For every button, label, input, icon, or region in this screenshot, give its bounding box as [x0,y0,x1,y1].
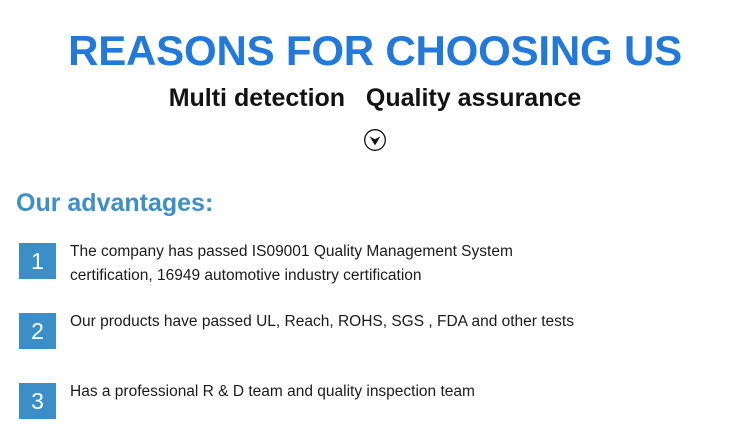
chevron-down-circle-icon [363,128,387,152]
list-item-text: Our products have passed UL, Reach, ROHS… [70,310,750,334]
list-item-text: The company has passed IS09001 Quality M… [70,240,750,288]
list-item-number-badge: 3 [19,383,56,419]
section-heading: Our advantages: [16,188,213,218]
list-item-number-badge: 1 [19,243,56,279]
list-item: 3 Has a professional R & D team and qual… [0,375,750,445]
list-item: 2 Our products have passed UL, Reach, RO… [0,305,750,375]
page-subtitle: Multi detection Quality assurance [0,83,750,113]
list-item: 1 The company has passed IS09001 Quality… [0,235,750,305]
banner-header: REASONS FOR CHOOSING US Multi detection … [0,26,750,113]
advantages-list: 1 The company has passed IS09001 Quality… [0,235,750,445]
list-item-text: Has a professional R & D team and qualit… [70,380,750,404]
list-item-number-badge: 2 [19,313,56,349]
reasons-for-choosing-us-banner: REASONS FOR CHOOSING US Multi detection … [0,0,750,439]
divider [0,128,750,152]
page-title: REASONS FOR CHOOSING US [0,26,750,76]
